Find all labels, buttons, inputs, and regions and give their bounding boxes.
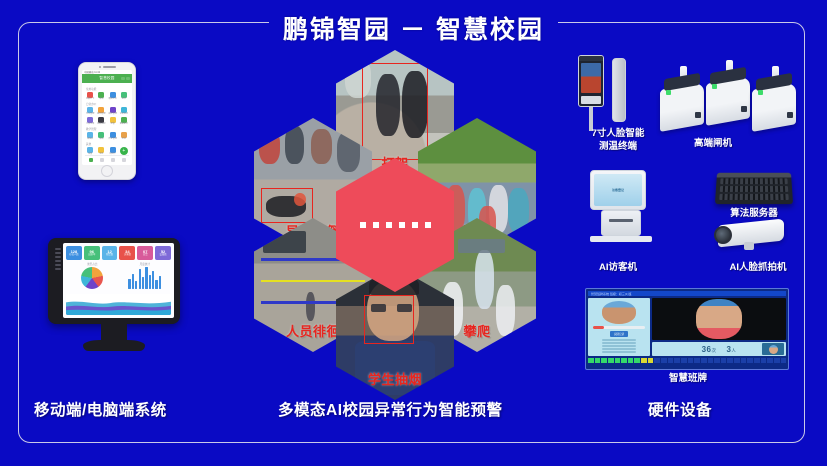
kpi-label: 设备数: [159, 254, 166, 256]
app-label: 预警: [111, 123, 115, 125]
app-icon: [98, 117, 104, 123]
phone-app-item[interactable]: 视频监控: [96, 117, 106, 126]
app-label: 考勤打卡: [86, 98, 94, 100]
board-video-panel: 36次 3人: [652, 298, 786, 356]
caption-face-terminal-line2: 测温终端: [578, 141, 658, 154]
server-rack: [715, 173, 793, 204]
phone-app-item[interactable]: 数据统计: [119, 117, 129, 126]
monitor-stand-neck: [101, 324, 127, 340]
donut-chart-title: 类型占比: [87, 262, 97, 266]
phone-app-grid-3[interactable]: 课程表 成绩 作业管理 考试: [85, 132, 129, 141]
hexagon-cluster: 打架 异常跌倒 聚众: [232, 48, 552, 378]
caption-gate: 高端闸机: [668, 138, 758, 151]
app-label: 视频监控: [97, 123, 105, 125]
kiosk-display: 访客登记: [590, 170, 646, 210]
board-video-feed: [652, 298, 786, 340]
bar-chart-panel: 月度统计: [121, 262, 170, 292]
board-led-strip: [588, 358, 786, 363]
kpi-card: 96出勤率: [84, 246, 100, 260]
face-terminal-side-panel: [612, 58, 626, 122]
board-avatar: [602, 301, 636, 324]
kpi-label: 预警数: [106, 254, 113, 256]
phone-screen: 中国移动 11:42 智慧校园 常用功能 考勤打卡 请假 通知公告 报修 日常办…: [82, 70, 132, 165]
caption-visitor-kiosk-line1: AI访客机: [586, 262, 650, 275]
phone-app-item[interactable]: 访客登记: [119, 107, 129, 116]
phone-app-item[interactable]: 消息: [96, 147, 106, 156]
phone-header-buttons[interactable]: [121, 77, 131, 81]
caption-visitor-kiosk: AI访客机: [586, 262, 650, 275]
phone-app-item[interactable]: 考勤打卡: [85, 92, 95, 101]
gate-unit[interactable]: [752, 66, 798, 128]
board-header: 智慧班牌系统 班级：初三(1)班: [588, 291, 786, 296]
app-label: 设置: [88, 153, 92, 155]
phone-section-label: 常用功能: [86, 87, 129, 91]
phone-app-item[interactable]: 通知公告: [108, 92, 118, 101]
phone-app-item[interactable]: 报修: [119, 92, 129, 101]
app-label: 作业管理: [108, 138, 116, 140]
app-label: 课程表: [87, 138, 93, 140]
gate-unit[interactable]: [706, 60, 752, 122]
board-header-text: 智慧班牌系统 班级：初三(1)班: [591, 292, 632, 296]
app-label: 校园卡: [110, 153, 116, 155]
hardware-server[interactable]: [716, 172, 792, 204]
app-icon: [121, 92, 127, 98]
dashboard-charts-row: 类型占比 月度统计: [66, 262, 171, 292]
area-chart: [66, 294, 171, 315]
phone-app-item[interactable]: 门禁记录: [85, 117, 95, 126]
gate-reader-icon: [787, 112, 793, 118]
board-records-button[interactable]: 识别记录: [610, 331, 628, 337]
phone-app-item[interactable]: 学生管理: [85, 107, 95, 116]
board-pass-count: 36次: [702, 345, 717, 354]
caption-server: 算法服务器: [714, 208, 794, 221]
phone-section-label: 教学管理: [86, 127, 129, 131]
app-label: 考试: [122, 138, 126, 140]
app-icon: [110, 107, 116, 113]
caption-gate-line1: 高端闸机: [668, 138, 758, 151]
center-dots: [360, 222, 431, 228]
phone-app-item[interactable]: 预警: [108, 117, 118, 126]
app-label: 数据统计: [120, 123, 128, 125]
board-stats-bar: 36次 3人: [652, 342, 786, 356]
app-icon: [110, 92, 116, 98]
app-icon: [110, 132, 116, 138]
kpi-card: 07告警: [137, 246, 153, 260]
app-icon: [87, 117, 93, 123]
caption-smart-board: 智慧班牌: [648, 373, 728, 386]
caption-capture-camera: AI人脸抓拍机: [706, 262, 810, 275]
camera-mount: [744, 242, 754, 250]
phone-app-grid-2[interactable]: 学生管理 教师管理 宿舍管理 访客登记 门禁记录 视频监控 预警 数据统计: [85, 107, 129, 126]
poster-canvas: 鹏锦智园 － 智慧校园 中国移动 11:42 智慧校园 常用功能 考勤打卡 请假…: [0, 0, 827, 466]
app-label: 教师管理: [97, 113, 105, 115]
caption-right-section: 硬件设备: [648, 398, 712, 420]
phone-app-item[interactable]: 设置: [85, 147, 95, 156]
monitor-stand-base: [83, 340, 145, 351]
app-icon: [110, 117, 116, 123]
phone-app-item[interactable]: 教师管理: [96, 107, 106, 116]
phone-add-button[interactable]: +: [119, 147, 129, 156]
server-drive-row: [720, 186, 788, 192]
bar-chart-title: 月度统计: [140, 262, 150, 266]
monitor-bezel: 128在校人数 96出勤率 12预警数 34访客数 07告警 52设备数 类型占…: [48, 238, 180, 324]
board-info-lines: [602, 339, 636, 353]
caption-smart-board-line1: 智慧班牌: [648, 373, 728, 386]
phone-app-item[interactable]: 成绩: [96, 132, 106, 141]
donut-chart: [81, 267, 103, 289]
phone-app-item[interactable]: 考试: [119, 132, 129, 141]
phone-app-item[interactable]: 校园卡: [108, 147, 118, 156]
board-progress-slider[interactable]: [593, 326, 645, 329]
gate-unit[interactable]: [660, 66, 706, 128]
board-pass-count-value: 36: [702, 345, 712, 354]
app-icon: [98, 92, 104, 98]
phone-app-item[interactable]: 作业管理: [108, 132, 118, 141]
app-label: 访客登记: [120, 113, 128, 115]
kpi-card: 34访客数: [119, 246, 135, 260]
hardware-gates[interactable]: [660, 52, 808, 132]
poster-title-bar: 鹏锦智园 － 智慧校园: [0, 10, 827, 46]
kpi-label: 告警: [143, 254, 148, 256]
board-profile-panel: 识别记录: [588, 298, 650, 356]
hardware-smart-board[interactable]: 智慧班牌系统 班级：初三(1)班 识别记录 36次 3人: [585, 288, 789, 370]
board-thumbnail: [762, 343, 784, 355]
app-icon: [87, 132, 93, 138]
app-label: 成绩: [99, 138, 103, 140]
kpi-label: 访客数: [124, 254, 131, 256]
app-icon: [121, 107, 127, 113]
page-title: 鹏锦智园 － 智慧校园: [269, 10, 558, 46]
hardware-capture-camera[interactable]: [718, 222, 784, 244]
face-terminal-infobar: [581, 96, 601, 104]
donut-chart-panel: 类型占比: [68, 262, 117, 292]
gate-led-icon: [758, 90, 763, 95]
kpi-row: 128在校人数 96出勤率 12预警数 34访客数 07告警 52设备数: [66, 246, 171, 260]
gate-led-icon: [712, 84, 717, 89]
board-people-count: 3人: [726, 345, 736, 354]
desktop-monitor-mockup: 128在校人数 96出勤率 12预警数 34访客数 07告警 52设备数 类型占…: [48, 238, 180, 356]
kpi-label: 在校人数: [69, 254, 79, 256]
face-terminal-preview: [581, 63, 601, 93]
board-pass-count-unit: 次: [711, 348, 716, 353]
phone-app-item[interactable]: 课程表: [85, 132, 95, 141]
phone-home-button[interactable]: [101, 165, 113, 177]
bar-chart: [128, 267, 161, 289]
gate-reader-icon: [741, 106, 747, 112]
mobile-phone-mockup: 中国移动 11:42 智慧校园 常用功能 考勤打卡 请假 通知公告 报修 日常办…: [78, 62, 136, 180]
dashboard-screen: 128在校人数 96出勤率 12预警数 34访客数 07告警 52设备数 类型占…: [63, 243, 174, 318]
app-icon: [98, 147, 104, 153]
kpi-label: 出勤率: [88, 254, 95, 256]
phone-section-label: 其他: [86, 142, 129, 146]
phone-app-grid-4[interactable]: 设置 消息 校园卡 +: [85, 147, 129, 156]
gate-led-icon: [666, 90, 671, 95]
app-icon: [98, 132, 104, 138]
kpi-card: 128在校人数: [66, 246, 82, 260]
phone-tab-apps-icon[interactable]: [100, 158, 104, 162]
board-detected-face: [696, 299, 742, 339]
board-main: 识别记录 36次 3人: [588, 298, 786, 356]
phone-app-item[interactable]: 宿舍管理: [108, 107, 118, 116]
kiosk-base: [601, 210, 641, 236]
phone-app-title: 智慧校园: [99, 76, 114, 81]
camera-lens-icon: [714, 226, 732, 244]
kpi-card: 12预警数: [102, 246, 118, 260]
server-drive-row: [720, 178, 788, 184]
server-drive-row: [719, 194, 788, 200]
phone-app-item[interactable]: 请假: [96, 92, 106, 101]
kiosk-foot: [590, 236, 652, 242]
app-label: 消息: [99, 153, 103, 155]
hardware-face-terminal[interactable]: [578, 55, 604, 131]
app-icon: [121, 132, 127, 138]
kiosk-screen: 访客登记: [594, 174, 642, 206]
app-label: 请假: [99, 98, 103, 100]
phone-tab-profile-icon[interactable]: [122, 158, 126, 162]
phone-app-grid-1[interactable]: 考勤打卡 请假 通知公告 报修: [85, 92, 129, 101]
face-terminal-camera-icon: [579, 56, 603, 61]
kpi-card: 52设备数: [155, 246, 171, 260]
app-label: 学生管理: [86, 113, 94, 115]
app-icon: [87, 147, 93, 153]
app-label: 通知公告: [108, 98, 116, 100]
app-icon: [87, 92, 93, 98]
gate-reader-icon: [695, 112, 701, 118]
phone-app-header: 智慧校园: [82, 74, 132, 83]
phone-section-label: 日常办公: [86, 102, 129, 106]
phone-earpiece-icon: [96, 66, 118, 68]
caption-server-line1: 算法服务器: [714, 208, 794, 221]
app-icon: [110, 147, 116, 153]
caption-capture-camera-line1: AI人脸抓拍机: [706, 262, 810, 275]
app-icon: [98, 107, 104, 113]
phone-tab-message-icon[interactable]: [111, 158, 115, 162]
plus-icon: +: [120, 147, 128, 155]
app-label: 报修: [122, 98, 126, 100]
hex-label-smoking: 学生抽烟: [336, 369, 454, 388]
caption-face-terminal: 7寸人脸智能 测温终端: [578, 128, 658, 154]
app-label: 宿舍管理: [108, 113, 116, 115]
phone-app-body: 常用功能 考勤打卡 请假 通知公告 报修 日常办公 学生管理 教师管理 宿舍管理…: [82, 83, 132, 165]
phone-tab-bar[interactable]: [85, 155, 129, 162]
phone-tab-home-icon[interactable]: [89, 158, 93, 162]
hardware-visitor-kiosk[interactable]: 访客登记: [590, 170, 652, 242]
app-icon: [121, 117, 127, 123]
kiosk-screen-text: 访客登记: [612, 188, 624, 192]
monitor-side-nav: [53, 243, 63, 318]
caption-left-section: 移动端/电脑端系统: [34, 398, 167, 420]
face-terminal-screen: [578, 55, 604, 107]
kiosk-card-slot-icon: [609, 219, 633, 222]
caption-center-section: 多模态AI校园异常行为智能预警: [278, 398, 503, 420]
app-icon: [87, 107, 93, 113]
caption-face-terminal-line1: 7寸人脸智能: [578, 128, 658, 141]
app-label: 门禁记录: [86, 123, 94, 125]
board-people-count-unit: 人: [731, 348, 736, 353]
area-chart-svg: [66, 294, 171, 315]
